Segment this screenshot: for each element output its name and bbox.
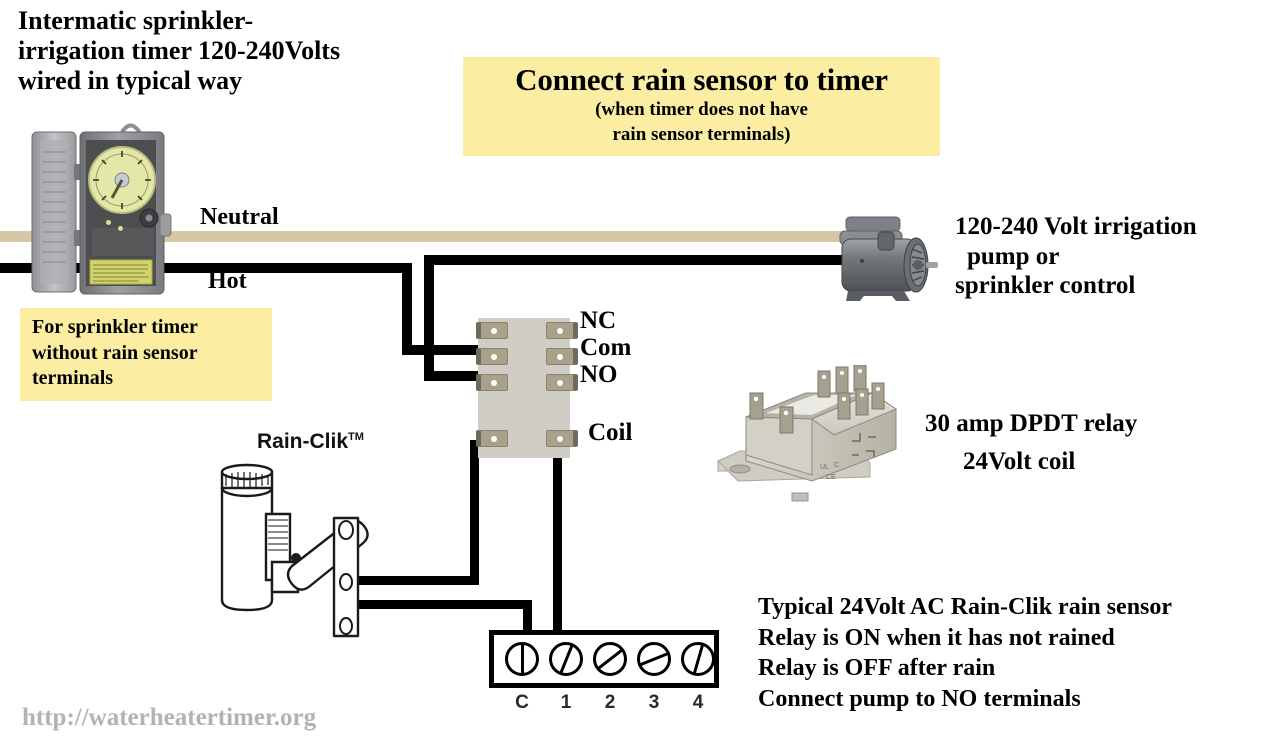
relay-label-line-1: 30 amp DPDT relay (925, 405, 1137, 443)
intermatic-timer-image (18, 118, 188, 308)
hot-wire-to-com-terminal (402, 345, 484, 355)
trademark-symbol: TM (348, 431, 364, 443)
relay-photo-label: 30 amp DPDT relay 24Volt coil (925, 405, 1137, 480)
terminal-screw-2[interactable] (593, 642, 627, 676)
relay-terminal-nc (546, 322, 578, 339)
terminal-screw-3[interactable] (637, 642, 671, 676)
svg-text:CE: CE (826, 474, 836, 481)
callout-left-line-3: terminals (32, 366, 262, 392)
motor-label-line-3: sprinkler control (955, 271, 1197, 301)
page-title: Intermatic sprinkler- irrigation timer 1… (18, 6, 438, 96)
screw-slot (639, 652, 670, 667)
terminal-label-3: 3 (641, 692, 667, 714)
callout-sub-line-2: rain sensor terminals) (463, 124, 940, 146)
terminal-label-c: C (509, 692, 535, 714)
title-line-2: irrigation timer 120-240Volts (18, 36, 438, 66)
coil-wire-left-vertical (470, 440, 479, 585)
terminal-label-2: 2 (597, 692, 623, 714)
callout-left-line-2: without rain sensor (32, 341, 262, 367)
terminal-screw-1[interactable] (549, 642, 583, 676)
relay-terminal-com-left (476, 348, 508, 365)
title-line-3: wired in typical way (18, 66, 438, 96)
neutral-label: Neutral (200, 204, 279, 231)
coil-wire-right-vertical (553, 440, 562, 662)
footer-url: http://waterheatertimer.org (22, 704, 316, 732)
rain-clik-sensor-image (208, 458, 383, 643)
title-line-1: Intermatic sprinkler- (18, 6, 438, 36)
relay-pin-label-com: Com (580, 336, 631, 361)
terminal-screw-4[interactable] (681, 642, 715, 676)
motor-label-line-2: pump or (955, 242, 1197, 272)
rain-clik-label: Rain-ClikTM (257, 430, 364, 454)
terminal-screw-c[interactable] (505, 642, 539, 676)
relay-pin-label-coil: Coil (588, 419, 632, 447)
callout-sub-line-1: (when timer does not have (463, 99, 940, 121)
rain-clik-name: Rain-Clik (257, 430, 348, 453)
motor-label: 120-240 Volt irrigation pump or sprinkle… (955, 212, 1197, 301)
relay-terminal-no-left (476, 374, 508, 391)
terminal-label-4: 4 (685, 692, 711, 714)
relay-label-line-2: 24Volt coil (925, 443, 1137, 481)
hot-wire-drop-com (402, 263, 412, 355)
screw-slot (596, 648, 623, 670)
hot-wire-branch-no (424, 255, 434, 373)
callout-connect-rain-sensor: Connect rain sensor to timer (when timer… (463, 57, 940, 156)
terminal-label-1: 1 (553, 692, 579, 714)
callout-headline: Connect rain sensor to timer (463, 63, 940, 97)
svg-text:UL: UL (820, 464, 829, 471)
screw-slot (521, 643, 524, 675)
relay-terminal-nc-left (476, 322, 508, 339)
relay-pin-label-nc: NC (580, 309, 616, 334)
motor-label-line-1: 120-240 Volt irrigation (955, 212, 1197, 242)
relay-terminal-com (546, 348, 578, 365)
irrigation-pump-motor-image (822, 205, 942, 315)
relay-terminal-coil-right (546, 430, 578, 447)
relay-terminal-coil-left (476, 430, 508, 447)
notes-line-1: Typical 24Volt AC Rain-Clik rain sensor (758, 592, 1172, 623)
notes-line-2: Relay is ON when it has not rained (758, 623, 1172, 654)
svg-text:C: C (834, 462, 839, 469)
relay-pin-label-no: NO (580, 363, 618, 388)
relay-terminal-no (546, 374, 578, 391)
screw-slot (692, 643, 704, 675)
notes-line-4: Connect pump to NO terminals (758, 684, 1172, 715)
hot-wire-to-no-terminal (424, 371, 484, 381)
notes-line-3: Relay is OFF after rain (758, 653, 1172, 684)
hot-wire-to-motor (424, 255, 844, 265)
callout-timer-without-rain-sensor: For sprinkler timer without rain sensor … (20, 308, 272, 401)
dpdt-relay-photo: ULCCE (710, 365, 910, 505)
screw-slot (559, 644, 574, 675)
hot-label: Hot (208, 268, 247, 295)
notes-block: Typical 24Volt AC Rain-Clik rain sensor … (758, 592, 1172, 715)
callout-left-line-1: For sprinkler timer (32, 315, 262, 341)
